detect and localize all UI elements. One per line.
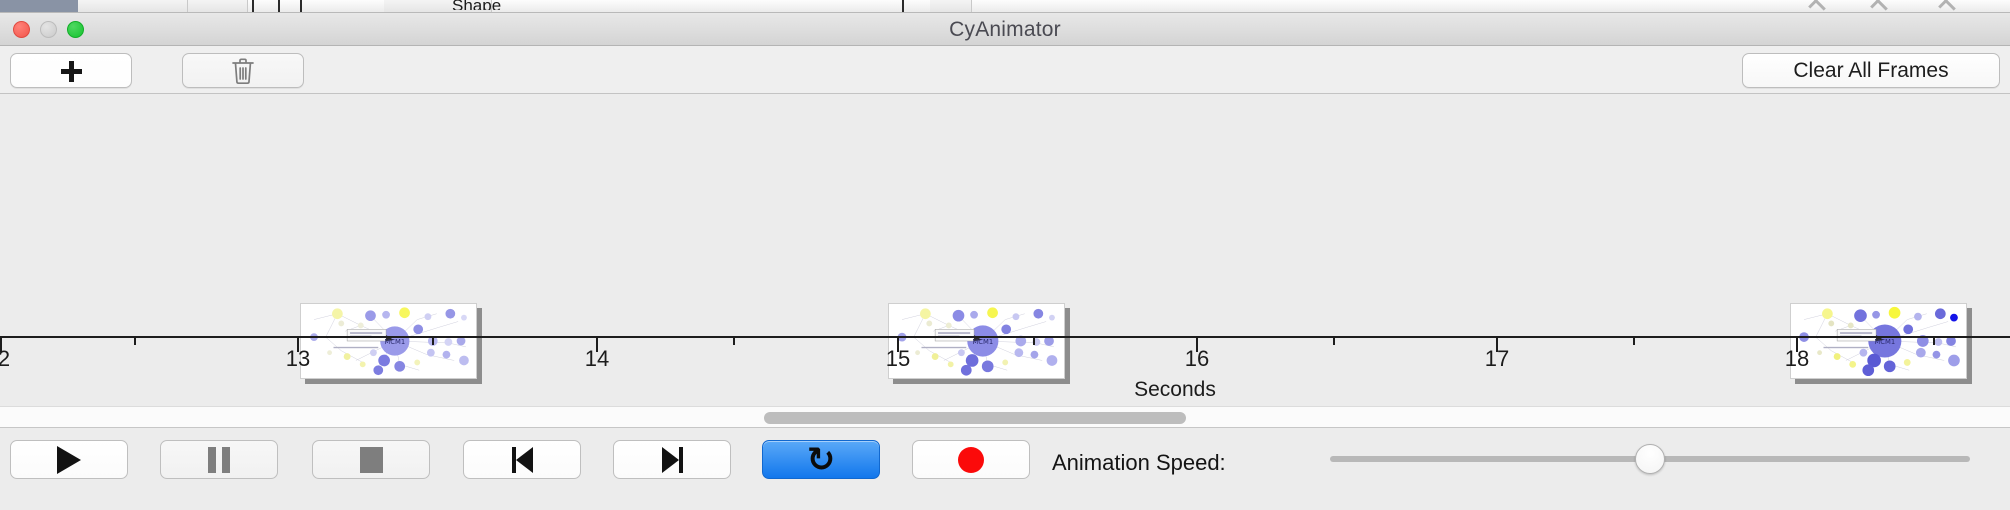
axis-tick-minor <box>733 336 735 345</box>
axis-tick-label: 15 <box>886 346 910 372</box>
background-marker <box>902 0 904 13</box>
timeline-panel[interactable]: MCM1 <box>0 94 2010 406</box>
window-titlebar[interactable]: CyAnimator <box>0 13 2010 46</box>
skip-to-end-button[interactable] <box>613 440 731 479</box>
axis-tick-minor <box>1033 336 1035 345</box>
network-graph-preview: MCM1 <box>1791 304 1966 378</box>
thumbnail-image: MCM1 <box>1790 303 1967 379</box>
background-resize-arrow-icon <box>1808 0 1826 13</box>
clear-all-frames-button[interactable]: Clear All Frames <box>1742 53 2000 88</box>
playback-controls-bar: ↻ Animation Speed: <box>0 427 2010 489</box>
axis-tick-label: 18 <box>1785 346 1809 372</box>
slider-thumb[interactable] <box>1635 444 1665 474</box>
thumbnail-image: MCM1 <box>300 303 477 379</box>
axis-tick-minor <box>432 336 434 345</box>
skip-to-end-icon <box>662 447 683 473</box>
scrollbar-thumb[interactable] <box>764 412 1186 424</box>
frame-thumbnail[interactable]: MCM1 <box>888 303 1068 381</box>
axis-title: Seconds <box>0 378 2010 402</box>
axis-tick-label: 16 <box>1185 346 1209 372</box>
loop-button[interactable]: ↻ <box>762 440 880 479</box>
frame-thumbnail[interactable]: MCM1 <box>1790 303 1970 381</box>
background-tab <box>78 0 188 13</box>
pause-button[interactable] <box>160 440 278 479</box>
svg-text:MCM1: MCM1 <box>972 338 993 346</box>
background-marker <box>300 0 302 13</box>
stop-button[interactable] <box>312 440 430 479</box>
background-tab <box>188 0 248 13</box>
background-window-strip: Shape <box>0 0 2010 13</box>
background-selected-tab <box>0 0 78 13</box>
background-window-label: Shape <box>452 0 501 10</box>
svg-text:MCM1: MCM1 <box>384 338 405 346</box>
network-graph-preview: MCM1 <box>889 304 1064 378</box>
record-icon <box>958 447 984 473</box>
axis-tick-label: 17 <box>1485 346 1509 372</box>
axis-tick-minor <box>134 336 136 345</box>
svg-text:MCM1: MCM1 <box>1874 338 1895 346</box>
skip-to-start-button[interactable] <box>463 440 581 479</box>
window-title: CyAnimator <box>0 18 2010 42</box>
axis-tick-minor <box>1633 336 1635 345</box>
pause-icon <box>208 447 230 473</box>
add-frame-button[interactable] <box>10 53 132 88</box>
frame-thumbnail[interactable]: MCM1 <box>300 303 480 381</box>
axis-tick-minor <box>1933 336 1935 345</box>
cyanimator-window: CyAnimator Clear All Frames <box>0 13 2010 510</box>
thumbnail-image: MCM1 <box>888 303 1065 379</box>
animation-speed-label: Animation Speed: <box>1052 450 1226 476</box>
play-button[interactable] <box>10 440 128 479</box>
animation-speed-slider[interactable] <box>1330 456 1970 462</box>
axis-title-text: Seconds <box>1134 378 1216 401</box>
skip-to-start-icon <box>512 447 533 473</box>
network-graph-preview: MCM1 <box>301 304 476 378</box>
timeline-axis <box>0 336 2010 338</box>
frame-toolbar: Clear All Frames <box>0 46 2010 94</box>
timeline-horizontal-scrollbar[interactable] <box>0 406 2010 427</box>
background-resize-arrow-icon <box>1938 0 1956 13</box>
delete-frame-button[interactable] <box>182 53 304 88</box>
axis-tick-label: 13 <box>286 346 310 372</box>
stop-icon <box>360 447 383 473</box>
loop-icon: ↻ <box>807 445 836 475</box>
record-button[interactable] <box>912 440 1030 479</box>
background-marker <box>278 0 280 13</box>
axis-tick-label: 2 <box>0 346 10 372</box>
trash-icon <box>230 57 256 85</box>
background-marker <box>252 0 254 13</box>
axis-tick-label: 14 <box>585 346 609 372</box>
background-resize-arrow-icon <box>1870 0 1888 13</box>
background-tab <box>930 0 972 13</box>
plus-icon <box>60 60 82 82</box>
play-icon <box>57 446 81 474</box>
axis-tick-minor <box>1333 336 1335 345</box>
